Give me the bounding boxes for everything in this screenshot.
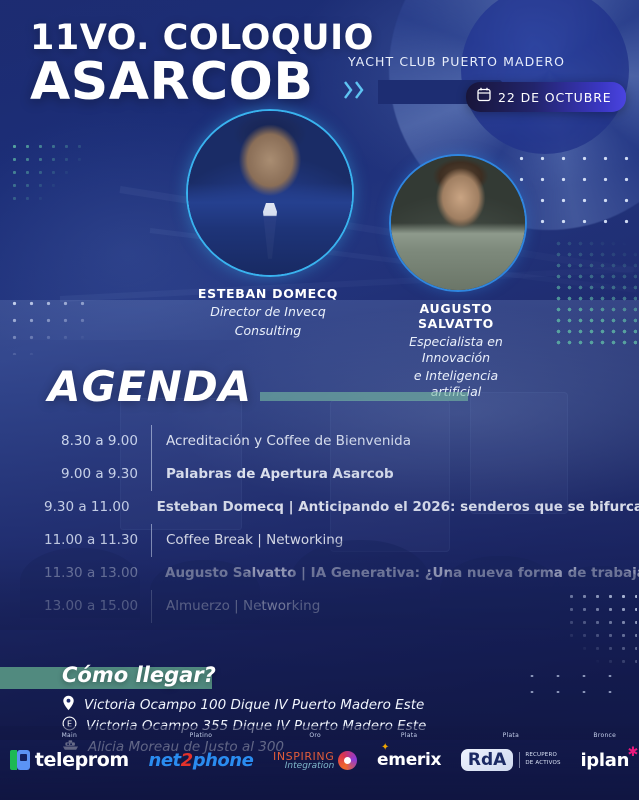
sponsor-name-part-a: net — [149, 750, 181, 771]
iplan-star-icon: ✱ — [628, 745, 639, 760]
avatar — [186, 109, 354, 277]
agenda-description: Almuerzo | Networking — [152, 598, 320, 614]
sponsor-sub-line-2: DE ACTIVOS — [525, 760, 560, 768]
speaker-name: ESTEBAN DOMECQ — [186, 286, 350, 301]
avatar — [389, 154, 527, 292]
agenda-description: Esteban Domecq | Anticipando el 2026: se… — [143, 499, 639, 515]
agenda-time: 9.30 a 11.00 — [44, 499, 143, 515]
speaker-role-line-1: Especialista en Innovación — [389, 334, 523, 365]
event-poster: 11VO. COLOQUIO ASARCOB YACHT CLUB PUERTO… — [0, 0, 639, 800]
agenda-description: Acreditación y Coffee de Bienvenida — [152, 433, 411, 449]
rda-logo: RdA RECUPERO DE ACTIVOS — [461, 748, 561, 772]
sponsor-name: iplan — [580, 750, 629, 771]
sponsor-teleprom: Main teleprom — [10, 732, 129, 772]
sponsor-tier-label: Platino — [190, 732, 213, 739]
how-to-arrive-title: Cómo llegar? — [62, 663, 639, 687]
sponsor-name: teleprom — [35, 749, 129, 771]
agenda-row: 9.30 a 11.00 Esteban Domecq | Anticipand… — [44, 491, 613, 524]
inspiring-integration-logo: INSPIRING Integration — [273, 748, 357, 772]
speaker-portrait-augusto — [391, 156, 525, 290]
sponsor-emerix: Plata ✦ emerix — [377, 732, 441, 772]
sponsor-tier-label: Main — [62, 732, 78, 739]
venue-label: YACHT CLUB PUERTO MADERO — [348, 54, 565, 69]
sponsor-iplan: Bronce iplan ✱ — [580, 732, 629, 772]
event-title-line-1: 11VO. COLOQUIO — [30, 22, 639, 56]
address-row: Victoria Ocampo 100 Dique IV Puerto Made… — [62, 695, 639, 716]
agenda-accent-bar — [260, 392, 468, 401]
agenda-list: 8.30 a 9.00 Acreditación y Coffee de Bie… — [0, 425, 639, 623]
sponsor-tier-label: Plata — [503, 732, 520, 739]
emerix-logo: ✦ emerix — [377, 748, 441, 772]
agenda-description: Coffee Break | Networking — [152, 532, 343, 548]
sponsor-inspiring-integration: Oro INSPIRING Integration — [273, 732, 357, 772]
iplan-logo: iplan ✱ — [580, 748, 629, 772]
sponsors-footer: Main teleprom Platino net2phone Oro INSP… — [0, 726, 639, 800]
page-title: AGENDA — [48, 362, 252, 411]
agenda-row: 11.00 a 11.30 Coffee Break | Networking — [44, 524, 613, 557]
sponsor-rda: Plata RdA RECUPERO DE ACTIVOS — [461, 732, 561, 772]
speakers-section: ESTEBAN DOMECQ Director de Invecq Consul… — [0, 106, 639, 356]
sponsor-name-part-b: 2 — [181, 750, 193, 771]
speaker-portrait-esteban — [188, 111, 352, 275]
speaker-role-line-1: Director de Invecq — [186, 304, 350, 320]
sponsor-net2phone: Platino net2phone — [149, 732, 254, 772]
agenda-row: 13.00 a 15.00 Almuerzo | Networking — [44, 590, 613, 623]
speaker-card-esteban: ESTEBAN DOMECQ Director de Invecq Consul… — [186, 109, 350, 338]
agenda-time: 11.00 a 11.30 — [44, 532, 151, 548]
inspiring-badge-icon — [338, 751, 357, 770]
speaker-name: AUGUSTO SALVATTO — [389, 301, 523, 331]
agenda-time: 9.00 a 9.30 — [44, 466, 151, 482]
agenda-time: 11.30 a 13.00 — [44, 565, 151, 581]
speaker-role-line-2: Consulting — [186, 323, 350, 339]
sponsor-sub-line-1: RECUPERO — [525, 752, 560, 760]
agenda-header: AGENDA — [48, 362, 639, 411]
sponsor-name-part-c: phone — [193, 750, 254, 771]
agenda-row: 11.30 a 13.00 Augusto Salvatto | IA Gene… — [44, 557, 613, 590]
map-pin-icon — [62, 695, 75, 716]
sponsor-tier-label: Bronce — [593, 732, 616, 739]
agenda-time: 8.30 a 9.00 — [44, 433, 151, 449]
sponsor-tier-label: Plata — [401, 732, 418, 739]
address-text: Victoria Ocampo 100 Dique IV Puerto Made… — [84, 697, 424, 713]
sponsor-name: RdA — [461, 749, 513, 771]
chevron-right-icon — [344, 80, 366, 100]
sponsor-name: emerix — [377, 750, 441, 770]
teleprom-logo: teleprom — [10, 748, 129, 772]
agenda-time: 13.00 a 15.00 — [44, 598, 151, 614]
poster-header: 11VO. COLOQUIO ASARCOB YACHT CLUB PUERTO… — [0, 0, 639, 106]
agenda-row: 8.30 a 9.00 Acreditación y Coffee de Bie… — [44, 425, 613, 458]
teleprom-mark-icon — [10, 749, 30, 771]
agenda-row: 9.00 a 9.30 Palabras de Apertura Asarcob — [44, 458, 613, 491]
calendar-icon — [477, 87, 491, 107]
emerix-bird-icon: ✦ — [381, 742, 389, 753]
agenda-description: Palabras de Apertura Asarcob — [152, 466, 394, 482]
sponsor-tier-label: Oro — [309, 732, 321, 739]
date-label: 22 DE OCTUBRE — [498, 90, 612, 105]
net2phone-logo: net2phone — [149, 748, 254, 772]
agenda-description: Augusto Salvatto | IA Generativa: ¿Una n… — [151, 565, 639, 581]
